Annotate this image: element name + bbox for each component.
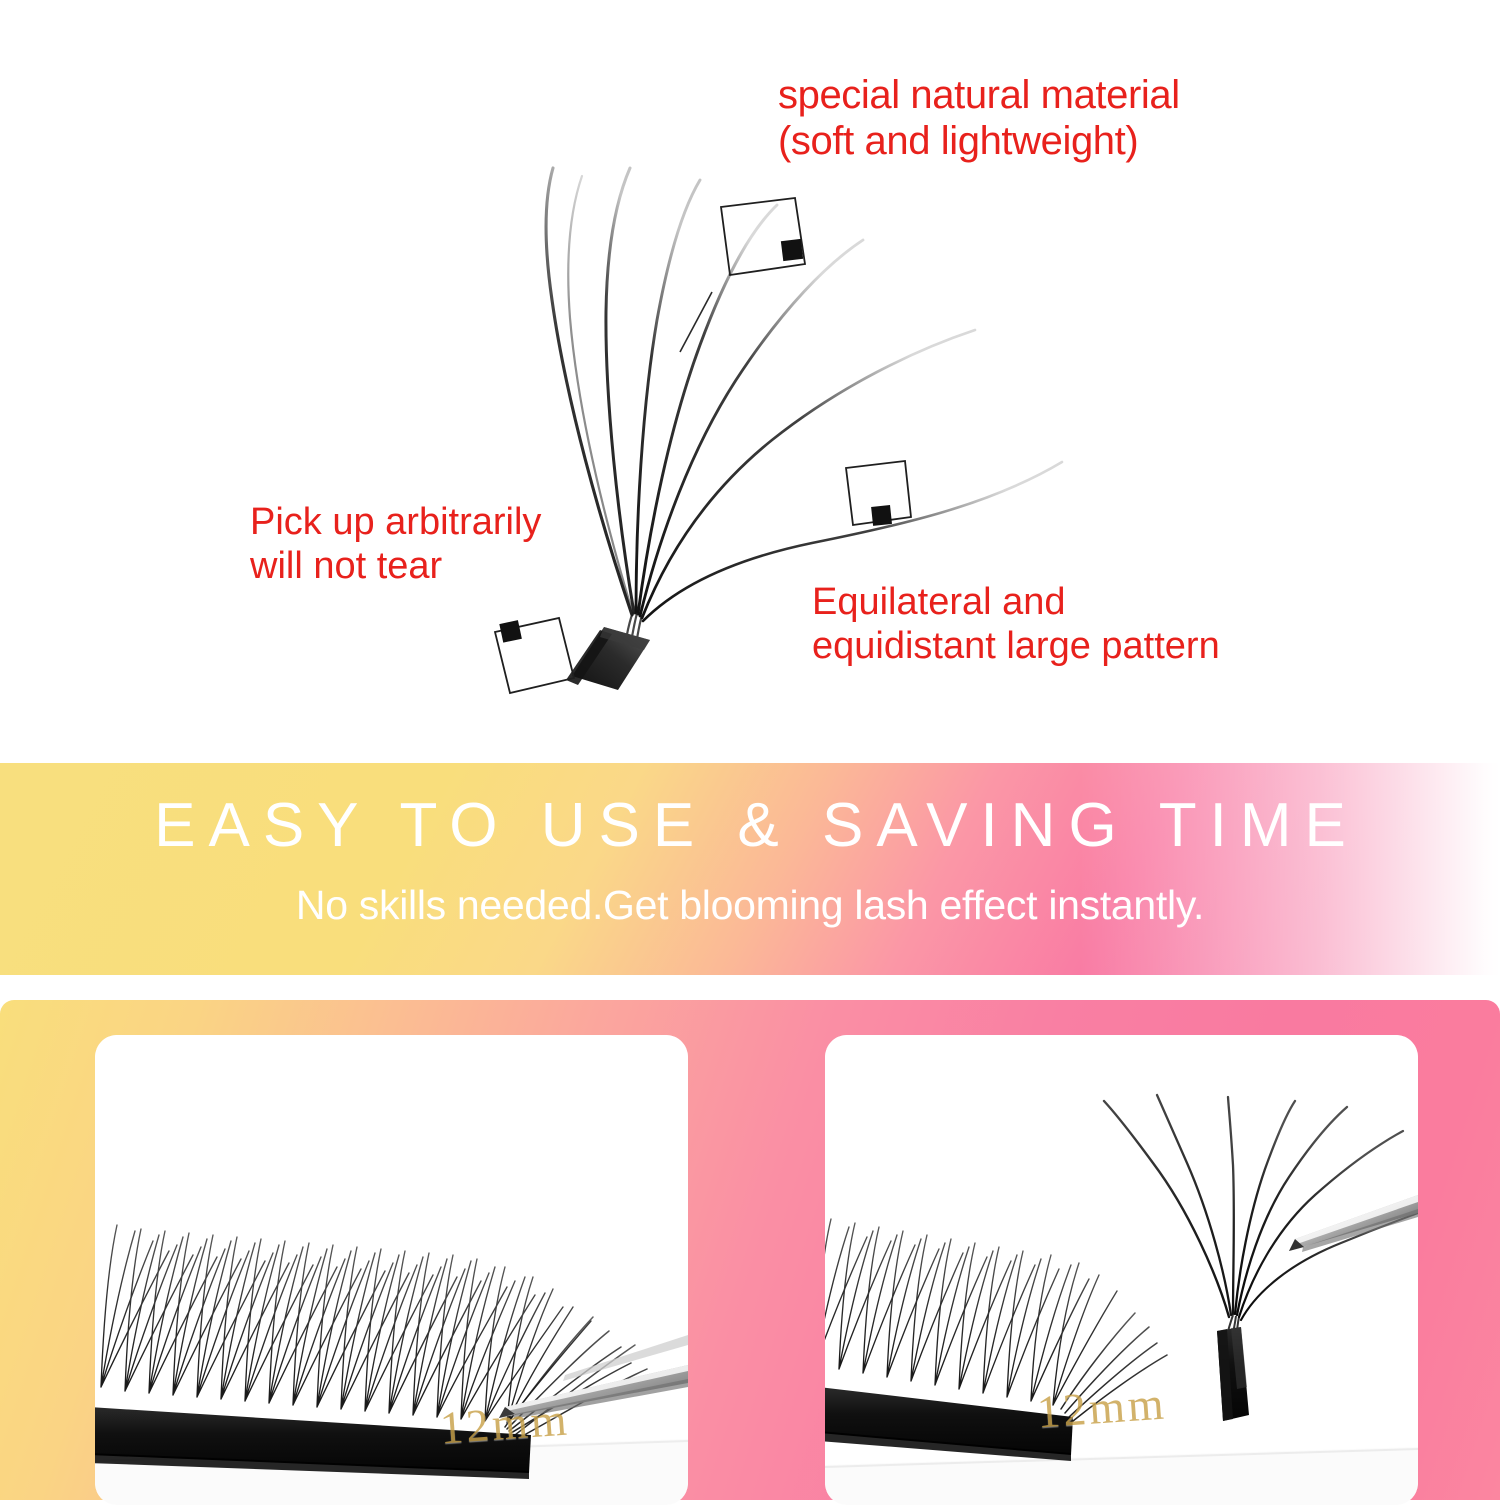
callout-marker-icon [846,461,911,526]
lash-fan-lifted-image [825,1035,1418,1505]
banner-headline: EASY TO USE & SAVING TIME [0,795,1500,857]
callout-special-natural-material: special natural material (soft and light… [778,72,1180,165]
photo-lash-tray-with-tweezers: 12mm [95,1035,688,1505]
callout-marker-icon [495,618,574,693]
banner-subtitle: No skills needed.Get blooming lash effec… [0,885,1500,926]
callout-marker-icon [680,198,805,352]
easy-to-use-banner: EASY TO USE & SAVING TIME No skills need… [0,763,1500,975]
photo-lash-fan-lifted: 12mm [825,1035,1418,1505]
lash-diagram-section: special natural material (soft and light… [0,0,1500,763]
product-photos-section: 12mm [0,1000,1500,1500]
callout-equilateral-equidistant: Equilateral and equidistant large patter… [812,580,1220,668]
lash-fan-illustration [0,0,1500,763]
lash-tray-image [95,1035,688,1505]
callout-pick-up-arbitrarily: Pick up arbitrarily will not tear [250,500,541,588]
